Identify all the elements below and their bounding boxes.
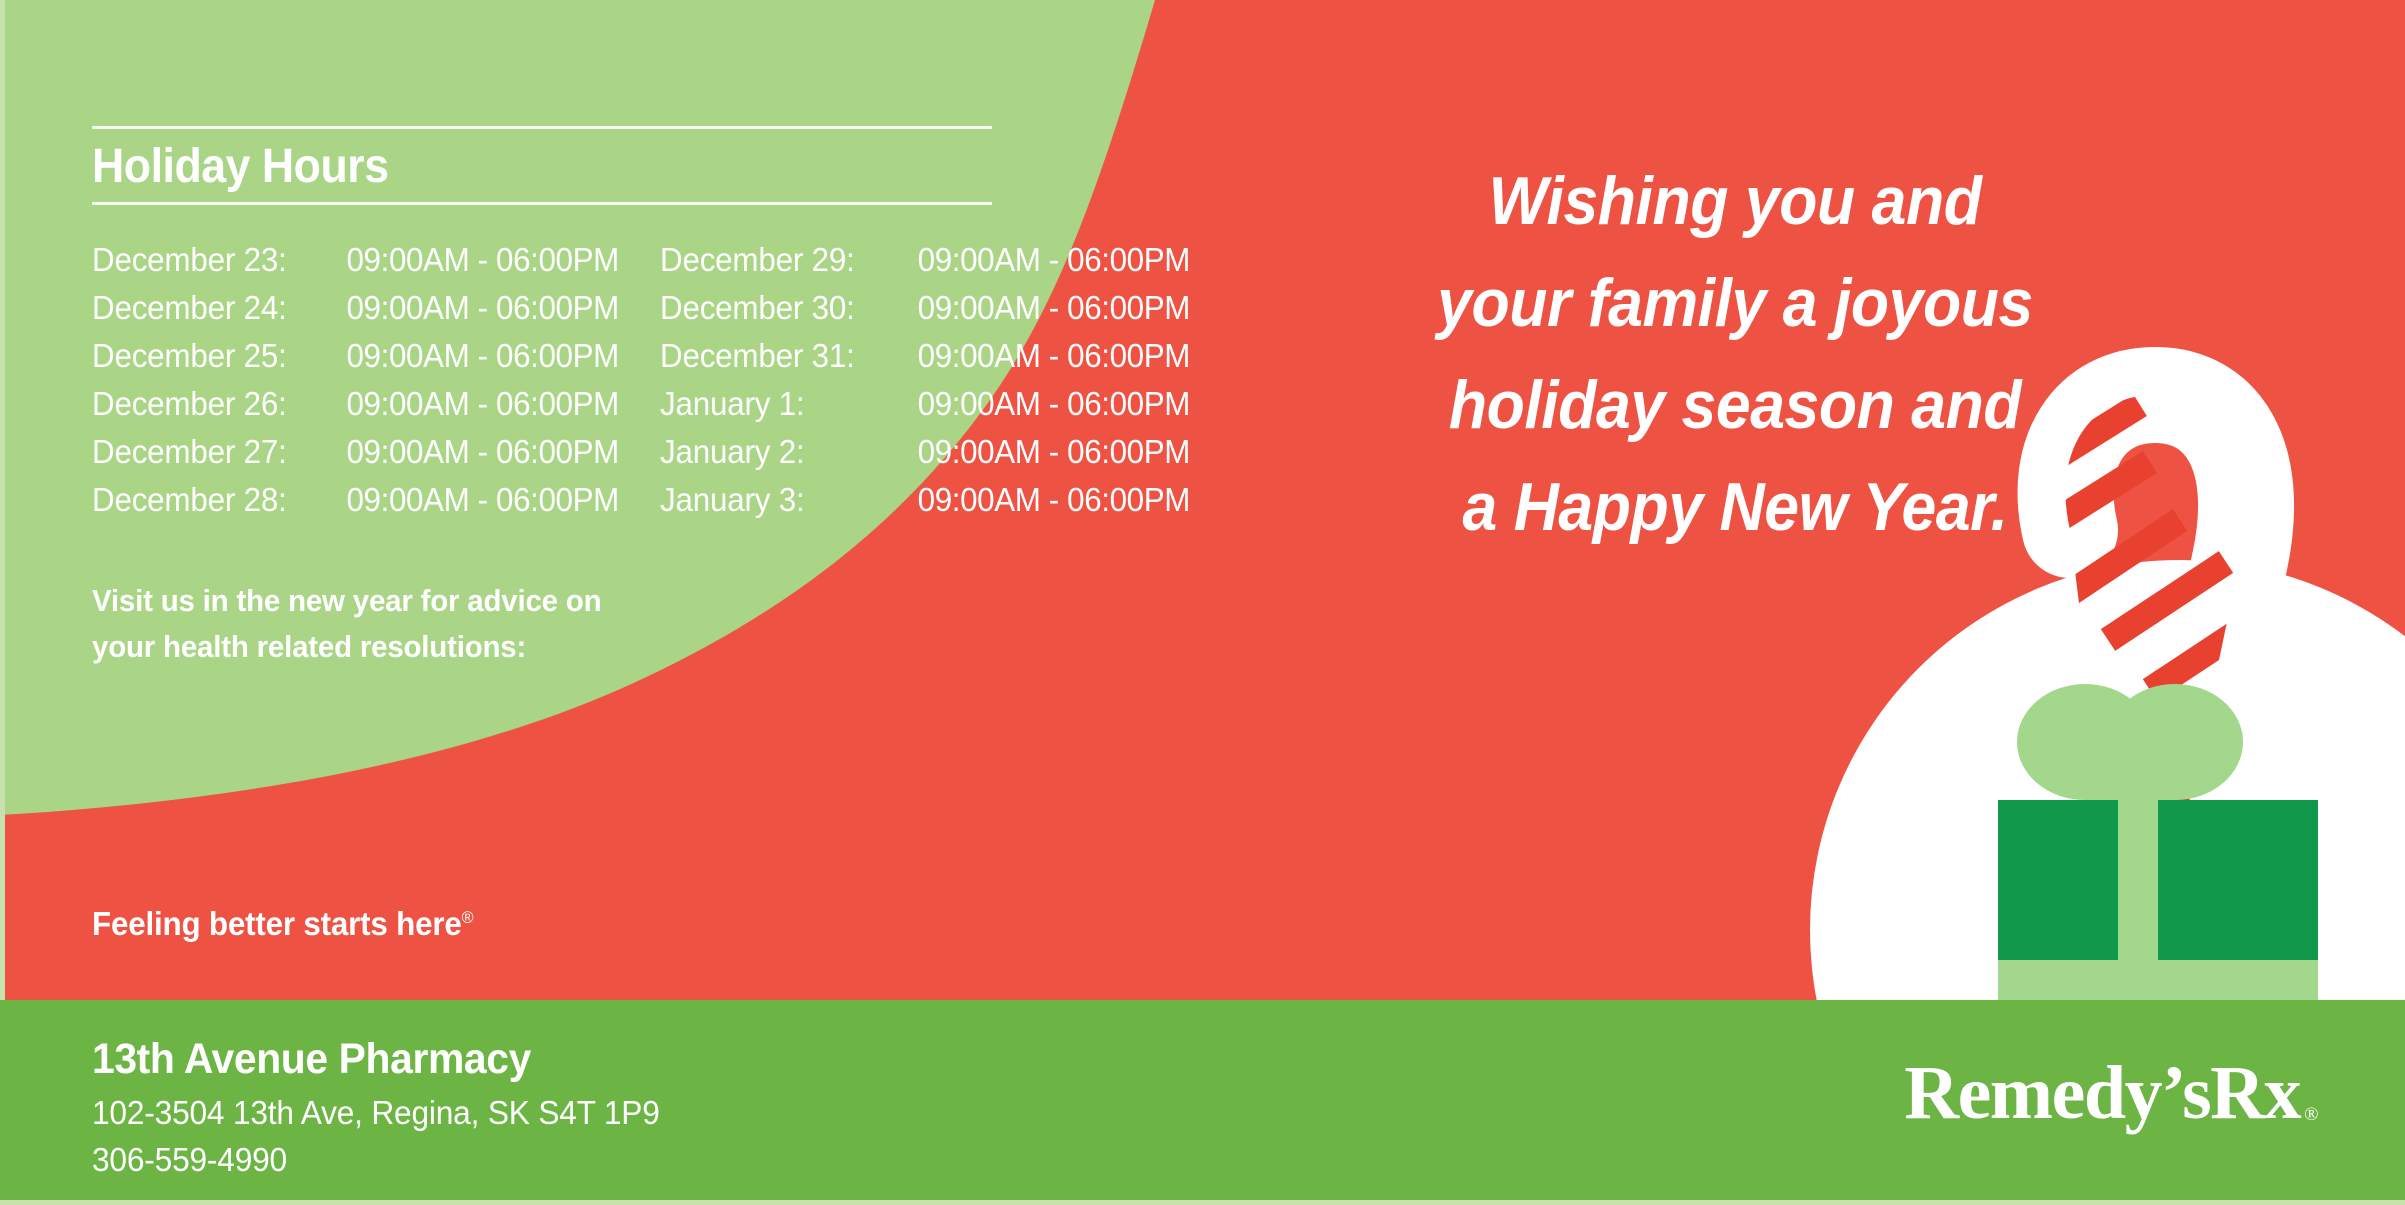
hours-row: December 24: 09:00AM - 06:00PM [92,289,622,337]
hours-time: 09:00AM - 06:00PM [915,289,1191,327]
greeting-line-2: your family a joyous [1353,252,2117,354]
brand-tagline: Feeling better starts here® [92,905,473,943]
hours-row: December 29: 09:00AM - 06:00PM [660,241,1190,289]
hours-time: 09:00AM - 06:00PM [347,241,623,279]
hours-date: December 26: [92,385,320,423]
store-name: 13th Avenue Pharmacy [92,1035,654,1084]
hours-row: January 2: 09:00AM - 06:00PM [660,433,1190,481]
hours-date: December 29: [660,241,888,279]
gift-ribbon-horizontal [1998,960,2318,1000]
greeting-line-4: a Happy New Year. [1353,456,2117,558]
holiday-greeting: Wishing you and your family a joyous hol… [1353,150,2117,558]
hours-row: December 31: 09:00AM - 06:00PM [660,337,1190,385]
hours-date: December 28: [92,481,320,519]
visit-note-line-1: Visit us in the new year for advice on [92,578,776,624]
greeting-line-1: Wishing you and [1353,150,2117,252]
hours-time: 09:00AM - 06:00PM [347,385,623,423]
registered-mark-icon: ® [2304,1104,2317,1125]
hours-row: December 27: 09:00AM - 06:00PM [92,433,622,481]
hours-column-right: December 29: 09:00AM - 06:00PM December … [660,241,1190,529]
hours-time: 09:00AM - 06:00PM [347,433,623,471]
hours-date: December 23: [92,241,320,279]
hours-time: 09:00AM - 06:00PM [347,337,623,375]
hours-time: 09:00AM - 06:00PM [915,337,1191,375]
hours-date: January 1: [660,385,888,423]
hours-row: December 25: 09:00AM - 06:00PM [92,337,622,385]
hours-rule-bottom [92,202,992,205]
holiday-hours-title: Holiday Hours [92,129,1050,202]
footer-bar: 13th Avenue Pharmacy 102-3504 13th Ave, … [0,1000,2405,1205]
hours-time: 09:00AM - 06:00PM [347,289,623,327]
hours-date: December 30: [660,289,888,327]
remedysrx-logo: Remedy’sRx® [1904,1055,2313,1131]
hours-row: December 28: 09:00AM - 06:00PM [92,481,622,529]
hours-time: 09:00AM - 06:00PM [915,481,1191,519]
hours-row: December 23: 09:00AM - 06:00PM [92,241,622,289]
hours-columns: December 23: 09:00AM - 06:00PM December … [92,241,1122,529]
remedysrx-wordmark: Remedy’sRx [1904,1051,2300,1135]
hours-time: 09:00AM - 06:00PM [915,241,1191,279]
hours-date: January 2: [660,433,888,471]
store-address: 102-3504 13th Ave, Regina, SK S4T 1P9 [92,1092,660,1134]
hours-row: January 1: 09:00AM - 06:00PM [660,385,1190,433]
hours-time: 09:00AM - 06:00PM [915,385,1191,423]
hours-date: December 31: [660,337,888,375]
registered-mark-icon: ® [462,908,474,927]
store-phone: 306-559-4990 [92,1139,660,1181]
holiday-hours-panel: Holiday Hours December 23: 09:00AM - 06:… [92,126,1122,529]
hours-column-left: December 23: 09:00AM - 06:00PM December … [92,241,622,529]
visit-note: Visit us in the new year for advice on y… [92,578,776,669]
hours-row: January 3: 09:00AM - 06:00PM [660,481,1190,529]
hours-date: January 3: [660,481,888,519]
hours-row: December 30: 09:00AM - 06:00PM [660,289,1190,337]
hours-row: December 26: 09:00AM - 06:00PM [92,385,622,433]
hours-date: December 27: [92,433,320,471]
hours-date: December 24: [92,289,320,327]
hours-time: 09:00AM - 06:00PM [347,481,623,519]
brand-tagline-text: Feeling better starts here [92,905,462,942]
holiday-hours-poster: Holiday Hours December 23: 09:00AM - 06:… [0,0,2405,1205]
greeting-line-3: holiday season and [1353,354,2117,456]
visit-note-line-2: your health related resolutions: [92,624,776,670]
store-info: 13th Avenue Pharmacy 102-3504 13th Ave, … [92,1035,683,1181]
hours-date: December 25: [92,337,320,375]
bottom-edge-border [0,1200,2405,1205]
hours-time: 09:00AM - 06:00PM [915,433,1191,471]
